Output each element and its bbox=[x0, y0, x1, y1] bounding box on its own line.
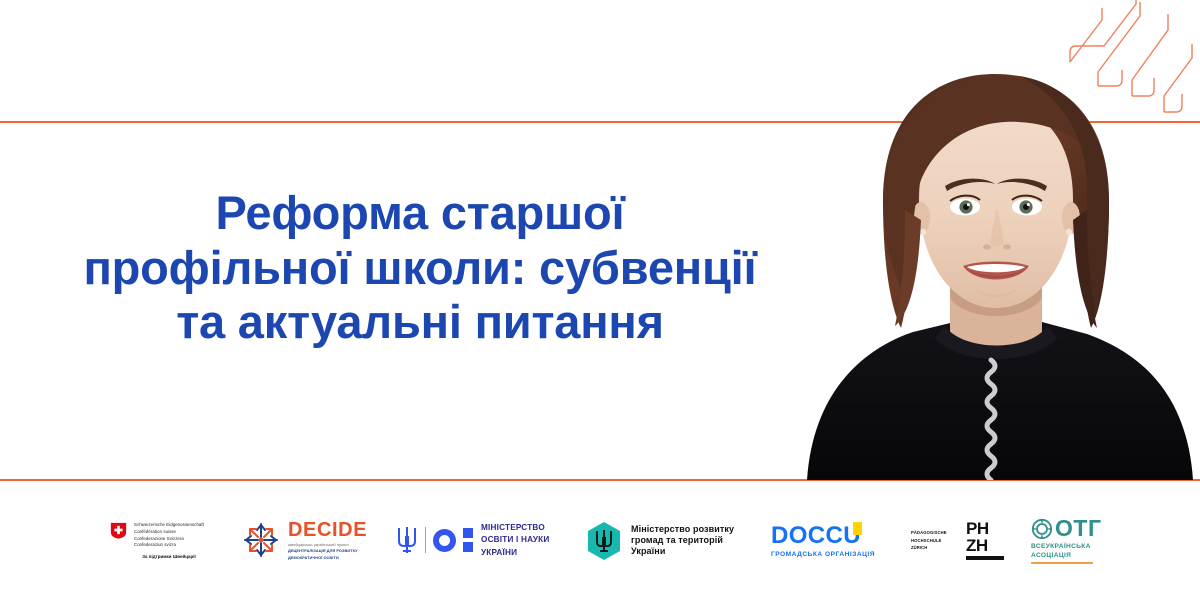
otg-underline bbox=[1031, 562, 1093, 564]
logo-doccu: DOCCU ГРОМАДСЬКА ОРГАНІЗАЦІЯ bbox=[771, 524, 911, 558]
logo-decide: DECIDE швейцарсько-український проєкт ДЕ… bbox=[241, 520, 396, 560]
doccu-wordmark: DOCCU bbox=[771, 524, 861, 548]
logo-phzh: PÄDAGOGISCHE HOCHSCHULE ZÜRICH PH ZH bbox=[911, 521, 1031, 559]
doccu-flag-accent bbox=[853, 522, 862, 535]
swiss-line-it: Confederazione Svizzera bbox=[134, 536, 204, 543]
teal-hexagon-trident-icon bbox=[586, 521, 622, 561]
swiss-line-de: Schweizerische Eidgenossenschaft bbox=[134, 522, 204, 529]
logo-swiss-confederation: Schweizerische Eidgenossenschaft Confédé… bbox=[73, 522, 241, 560]
phzh-small-1: PÄDAGOGISCHE bbox=[911, 529, 957, 536]
otg-sub-1: ВСЕУКРАЇНСЬКА bbox=[1031, 543, 1091, 552]
logo-otg-association: ОТГ ВСЕУКРАЇНСЬКА АСОЦІАЦІЯ bbox=[1031, 517, 1131, 565]
swiss-line-fr: Confédération suisse bbox=[134, 529, 204, 536]
mrg-line-2: громад та територій bbox=[631, 535, 734, 546]
logo-ministry-communities: Міністерство розвитку громад та територі… bbox=[586, 521, 771, 561]
logo-ministry-education: МІНІСТЕРСТВО ОСВІТИ І НАУКИ УКРАЇНИ bbox=[396, 522, 586, 559]
mon-line-2: ОСВІТИ І НАУКИ bbox=[481, 534, 549, 546]
mrg-line-3: України bbox=[631, 546, 734, 557]
ukraine-trident-icon bbox=[396, 525, 418, 555]
mon-squares-icon bbox=[463, 528, 473, 552]
phzh-underline bbox=[966, 556, 1004, 560]
logo-divider bbox=[425, 527, 426, 553]
swiss-support-note: За підтримки Швейцарії bbox=[142, 554, 196, 559]
decide-sub-3: ДЕМОКРАТИЧНОЇ ОСВІТИ bbox=[288, 555, 367, 561]
decide-wordmark: DECIDE bbox=[288, 520, 367, 540]
title-block: Реформа старшої профільної школи: субвен… bbox=[0, 186, 840, 350]
phzh-small-2: HOCHSCHULE bbox=[911, 537, 957, 544]
speaker-portrait bbox=[795, 60, 1200, 480]
decide-sub-2: ДЕЦЕНТРАЛІЗАЦІЯ ДЛЯ РОЗВИТКУ bbox=[288, 548, 367, 554]
swiss-line-rm: Confederaziun svizra bbox=[134, 542, 204, 549]
doccu-subtitle: ГРОМАДСЬКА ОРГАНІЗАЦІЯ bbox=[771, 551, 875, 558]
decide-snowflake-icon bbox=[241, 520, 281, 560]
banner-title: Реформа старшої профільної школи: субвен… bbox=[0, 186, 840, 350]
phzh-letters-zh: ZH bbox=[966, 538, 1004, 554]
otg-sub-2: АСОЦІАЦІЯ bbox=[1031, 552, 1091, 561]
partner-logo-strip: Schweizerische Eidgenossenschaft Confédé… bbox=[0, 481, 1200, 600]
mon-circle-icon bbox=[433, 529, 456, 552]
swiss-cross-icon bbox=[110, 522, 127, 539]
otg-emblem-icon bbox=[1031, 517, 1053, 541]
promo-banner: Реформа старшої профільної школи: субвен… bbox=[0, 0, 1200, 600]
mon-line-1: МІНІСТЕРСТВО bbox=[481, 522, 549, 534]
phzh-small-3: ZÜRICH bbox=[911, 544, 957, 551]
otg-letters: ОТГ bbox=[1055, 517, 1101, 540]
mrg-line-1: Міністерство розвитку bbox=[631, 524, 734, 535]
mon-line-3: УКРАЇНИ bbox=[481, 547, 549, 559]
